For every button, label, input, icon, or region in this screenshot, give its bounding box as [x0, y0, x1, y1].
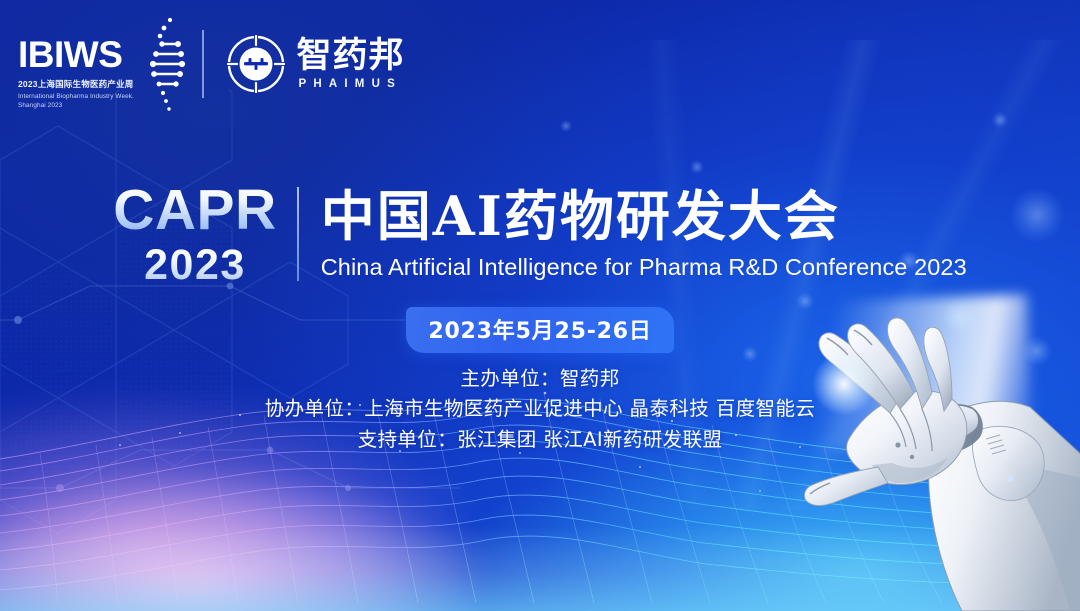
header-logo-bar: IBIWS 2023上海国际生物医药产业周 International Biop…	[18, 14, 405, 114]
title-column: 中国AI药物研发大会 China Artificial Intelligence…	[299, 183, 967, 287]
phaimus-name-cn: 智药邦	[297, 38, 405, 75]
ibiws-subtitle-cn: 2023上海国际生物医药产业周	[18, 78, 134, 90]
ibiws-wordmark: IBIWS	[18, 36, 134, 73]
page-title: 中国AI药物研发大会	[321, 188, 967, 245]
title-row: CAPR 2023 中国AI药物研发大会 China Artificial In…	[113, 183, 967, 287]
dna-helix-icon	[140, 14, 186, 114]
organizer-block: 主办单位：智药邦 协办单位：上海市生物医药产业促进中心 晶泰科技 百度智能云 支…	[0, 364, 1080, 455]
date-badge: 2023年5月25-26日	[406, 307, 673, 353]
acronym-year: 2023	[144, 244, 246, 287]
robot-hand-icon	[786, 311, 1080, 611]
phaimus-name-en: PHAIMUS	[297, 78, 405, 90]
crosshair-target-icon	[226, 34, 286, 94]
organizer-line-supporter: 支持单位：张江集团 张江AI新药研发联盟	[0, 425, 1080, 455]
conference-poster: IBIWS 2023上海国际生物医药产业周 International Biop…	[0, 0, 1080, 611]
acronym-column: CAPR 2023	[113, 183, 297, 287]
main-title-block: CAPR 2023 中国AI药物研发大会 China Artificial In…	[0, 183, 1080, 287]
logo-divider	[202, 30, 204, 98]
ibiws-text-block: IBIWS 2023上海国际生物医药产业周 International Biop…	[18, 14, 134, 109]
ibiws-subtitle-en: International Biopharma Industry Week.	[18, 93, 134, 100]
phaimus-text-block: 智药邦 PHAIMUS	[297, 38, 405, 90]
page-subtitle-en: China Artificial Intelligence for Pharma…	[321, 254, 967, 281]
phaimus-logo[interactable]: 智药邦 PHAIMUS	[226, 34, 405, 94]
ibiws-subtitle-city: Shanghai 2023	[18, 102, 134, 109]
date-zone: 2023年5月25-26日	[0, 307, 1080, 353]
ibiws-logo[interactable]: IBIWS 2023上海国际生物医药产业周 International Biop…	[18, 14, 186, 114]
organizer-line-coorganizer: 协办单位：上海市生物医药产业促进中心 晶泰科技 百度智能云	[0, 394, 1080, 424]
organizer-line-host: 主办单位：智药邦	[0, 364, 1080, 394]
acronym-capr: CAPR	[113, 183, 277, 238]
